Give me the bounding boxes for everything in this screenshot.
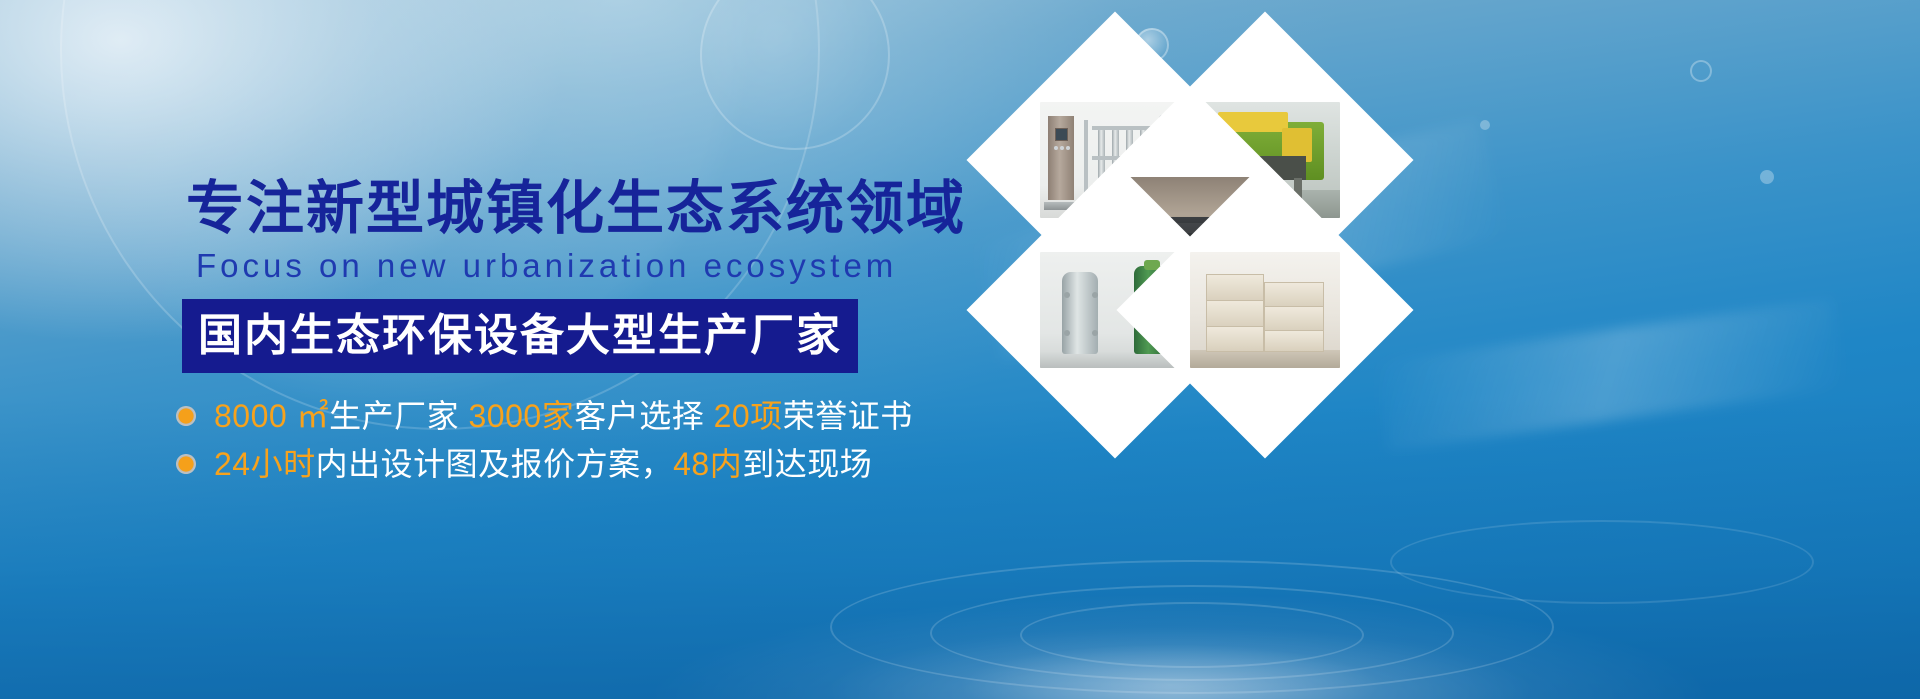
bubble-icon	[1480, 120, 1490, 130]
bullet-segment: 内出设计图及报价方案，	[316, 446, 674, 482]
ripple-ring	[930, 585, 1454, 681]
bullet-segment: 生产厂家	[329, 398, 468, 434]
bullet-text: 24小时内出设计图及报价方案，48内到达现场	[214, 448, 872, 480]
bullet-dot-icon	[176, 454, 196, 474]
bullet-dot-icon	[176, 406, 196, 426]
bullet-segment-accent: 48内	[673, 446, 742, 482]
feature-bullet-list: 8000 ㎡生产厂家 3000家客户选择 20项荣誉证书 24小时内出设计图及报…	[176, 400, 936, 496]
highlight-box: 国内生态环保设备大型生产厂家	[182, 299, 858, 373]
bullet-segment-accent: 24小时	[214, 446, 316, 482]
ripple-ring	[1390, 520, 1814, 604]
bullet-segment-accent: 8000 ㎡	[214, 398, 329, 434]
banner-subheadline: Focus on new urbanization ecosystem	[196, 249, 897, 282]
bullet-text: 8000 ㎡生产厂家 3000家客户选择 20项荣誉证书	[214, 400, 913, 432]
bullet-segment-accent: 3000家	[469, 398, 575, 434]
bullet-segment-accent: 20项	[714, 398, 783, 434]
ripple-ring	[1020, 602, 1364, 668]
light-streak	[1376, 298, 1844, 451]
bubble-icon	[1760, 170, 1774, 184]
photo-stacked-blocks	[1190, 252, 1340, 368]
bubble-icon	[1690, 60, 1712, 82]
list-item: 24小时内出设计图及报价方案，48内到达现场	[176, 448, 936, 480]
promo-banner: 专注新型城镇化生态系统领域 Focus on new urbanization …	[0, 0, 1920, 699]
banner-text-block: 专注新型城镇化生态系统领域 Focus on new urbanization …	[0, 0, 960, 699]
banner-headline: 专注新型城镇化生态系统领域	[186, 180, 966, 238]
highlight-box-text: 国内生态环保设备大型生产厂家	[198, 314, 842, 358]
bullet-segment: 到达现场	[742, 446, 872, 482]
diamond-photo-gallery	[905, 55, 1325, 485]
list-item: 8000 ㎡生产厂家 3000家客户选择 20项荣誉证书	[176, 400, 936, 432]
bullet-segment: 荣誉证书	[783, 398, 913, 434]
bullet-segment: 客户选择	[574, 398, 713, 434]
